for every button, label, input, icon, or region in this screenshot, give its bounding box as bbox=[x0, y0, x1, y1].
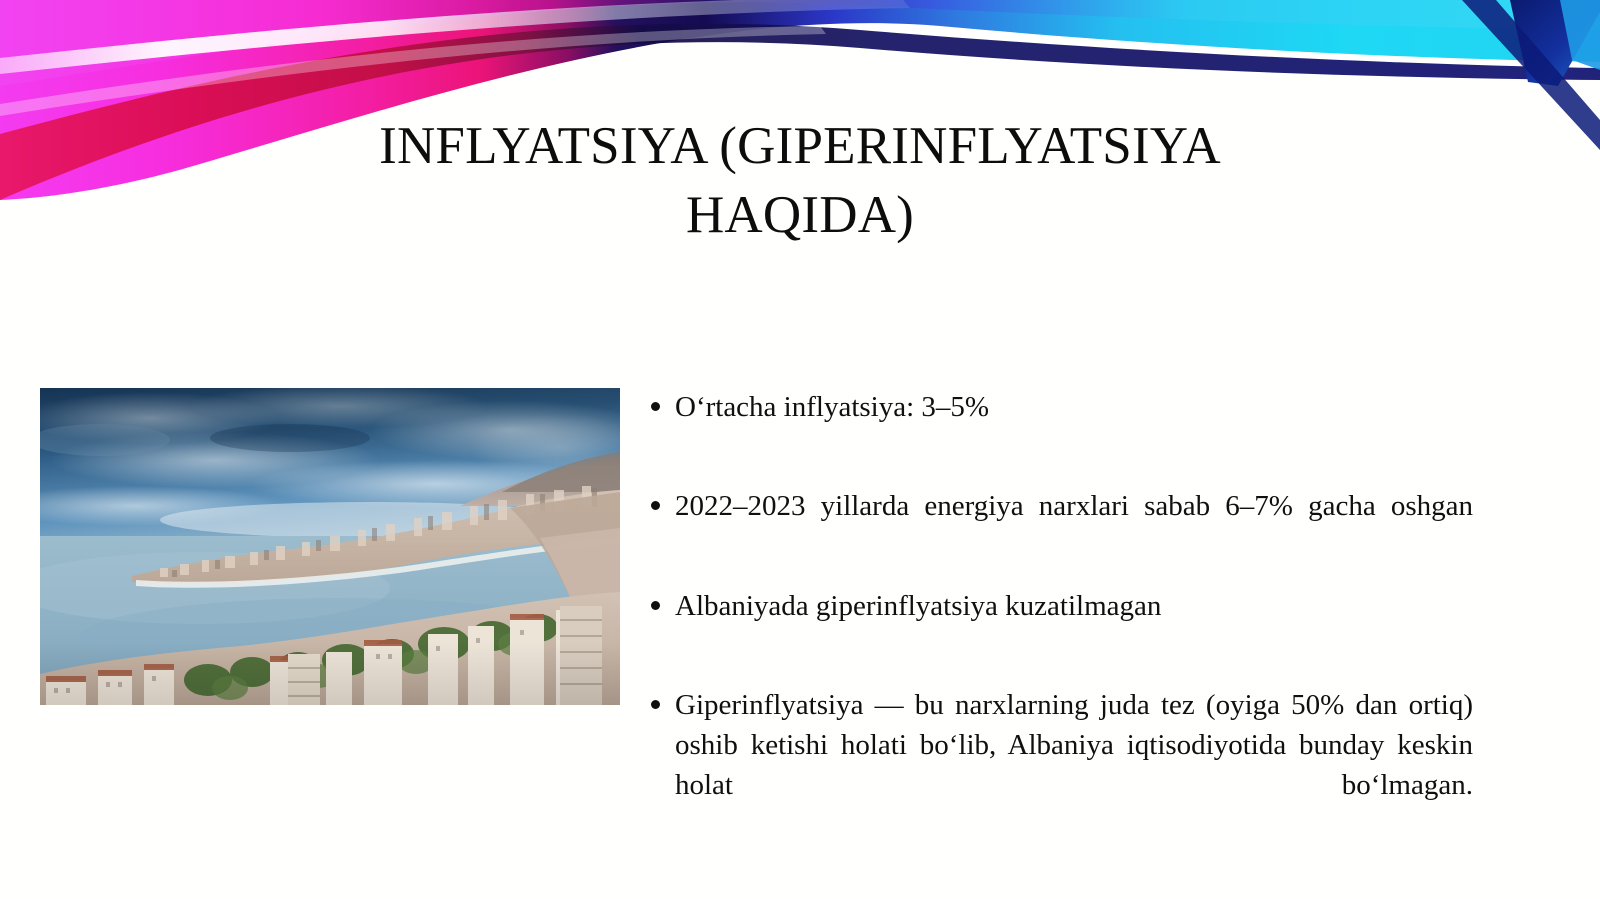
bullet-dot-icon bbox=[651, 601, 660, 610]
list-item: O‘rtacha inflyatsiya: 3–5% bbox=[645, 388, 1473, 467]
presentation-slide: INFLYATSIYA (GIPERINFLYATSIYA HAQIDA) bbox=[0, 0, 1600, 899]
bullet-dot-icon bbox=[651, 501, 660, 510]
slide-title-line-2: HAQIDA) bbox=[686, 186, 914, 244]
list-item: Giperinflyatsiya — bu narxlarning juda t… bbox=[645, 686, 1473, 845]
slide-title: INFLYATSIYA (GIPERINFLYATSIYA HAQIDA) bbox=[330, 112, 1270, 250]
coastal-city-photo bbox=[40, 388, 620, 705]
bullet-text: Giperinflyatsiya — bu narxlarning juda t… bbox=[675, 686, 1473, 845]
bullet-text: O‘rtacha inflyatsiya: 3–5% bbox=[675, 388, 1473, 467]
bullet-text: Albaniyada giperinflyatsiya kuzatilmagan bbox=[675, 587, 1473, 666]
bullet-dot-icon bbox=[651, 700, 660, 709]
list-item: 2022–2023 yillarda energiya narxlari sab… bbox=[645, 487, 1473, 566]
bullet-list: O‘rtacha inflyatsiya: 3–5% 2022–2023 yil… bbox=[645, 388, 1473, 845]
bullet-dot-icon bbox=[651, 402, 660, 411]
list-item: Albaniyada giperinflyatsiya kuzatilmagan bbox=[645, 587, 1473, 666]
slide-title-line-1: INFLYATSIYA (GIPERINFLYATSIYA bbox=[379, 117, 1221, 175]
bullet-text: 2022–2023 yillarda energiya narxlari sab… bbox=[675, 487, 1473, 566]
